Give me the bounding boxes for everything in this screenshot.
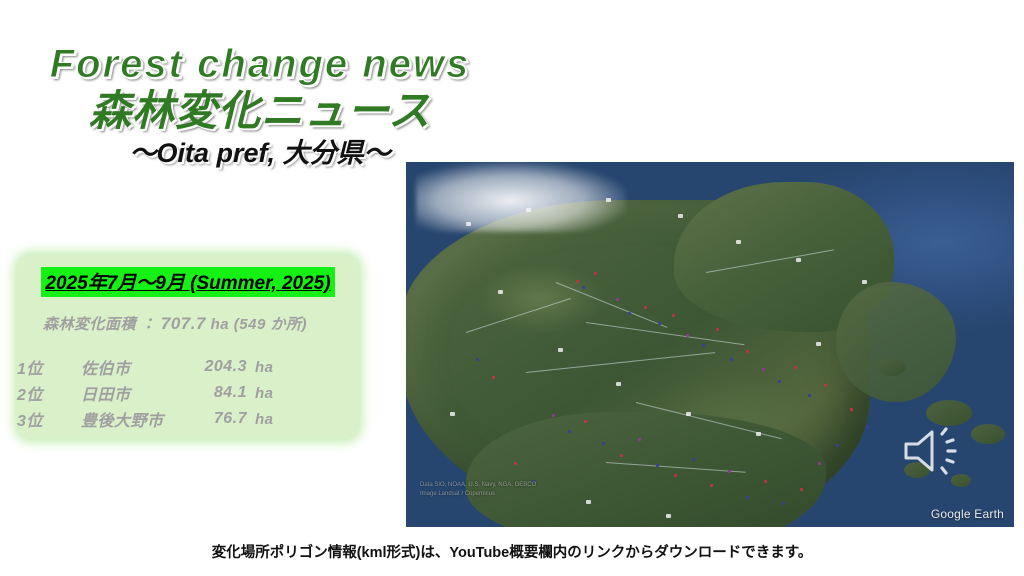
change-marker (746, 496, 749, 499)
change-marker (746, 350, 749, 353)
change-marker (728, 470, 731, 473)
change-marker (850, 408, 853, 411)
change-marker (552, 414, 555, 417)
change-marker (778, 380, 781, 383)
map-cloud (416, 162, 626, 232)
rank-unit: ha (247, 406, 274, 432)
map-place-label (666, 514, 671, 518)
map-island (926, 400, 972, 426)
map-place-label (796, 258, 801, 262)
map-place-label (862, 280, 867, 284)
footer-note: 変化場所ポリゴン情報(kml形式)は、YouTube概要欄内のリンクからダウンロ… (0, 541, 1024, 562)
map-place-label (816, 342, 821, 346)
map-attribution-line2: Image Landsat / Copernicus (420, 490, 536, 499)
rank-label: 3位 (17, 406, 81, 432)
rank-city: 佐伯市 (81, 354, 199, 380)
map-place-label (616, 382, 621, 386)
title-block: Forest change news 森林変化ニュース 〜Oita pref, … (0, 44, 520, 167)
map-island (876, 358, 906, 376)
map-place-label (558, 348, 563, 352)
change-marker (638, 438, 641, 441)
change-marker (514, 462, 517, 465)
map-place-label (686, 412, 691, 416)
change-marker (794, 366, 797, 369)
total-area-separator: ： (141, 316, 157, 333)
map-place-label (586, 500, 591, 504)
total-area-unit: ha (211, 316, 230, 333)
table-row: 2位 日田市 84.1 ha (17, 380, 274, 406)
change-marker (836, 444, 839, 447)
change-marker (800, 488, 803, 491)
title-japanese: 森林変化ニュース (0, 90, 520, 132)
change-marker (866, 426, 869, 429)
change-marker (602, 442, 605, 445)
change-marker (764, 480, 767, 483)
rank-value: 76.7 (199, 406, 247, 432)
change-marker (644, 306, 647, 309)
map-place-label (450, 412, 455, 416)
rank-value: 204.3 (199, 354, 247, 380)
map-canvas: Data SIO, NOAA, U.S. Navy, NGA, GEBCO Im… (406, 162, 1014, 527)
stats-heading-wrap: 2025年7月〜9月 (Summer, 2025) (17, 267, 359, 297)
change-marker (656, 464, 659, 467)
rank-value: 84.1 (199, 380, 247, 406)
change-marker (582, 286, 585, 289)
change-marker (584, 420, 587, 423)
stats-panel: 2025年7月〜9月 (Summer, 2025) 森林変化面積 ： 707.7… (17, 255, 359, 439)
change-marker (620, 454, 623, 457)
change-marker (702, 344, 705, 347)
change-marker (730, 358, 733, 361)
total-area-count: (549 か所) (234, 316, 307, 333)
google-earth-logo: Google Earth (931, 507, 1004, 521)
total-area-label: 森林変化面積 (43, 316, 136, 333)
change-marker (824, 384, 827, 387)
speaker-icon[interactable] (900, 425, 962, 477)
change-marker (674, 474, 677, 477)
change-marker (492, 376, 495, 379)
rank-unit: ha (247, 380, 274, 406)
table-row: 1位 佐伯市 204.3 ha (17, 354, 274, 380)
change-marker (672, 314, 675, 317)
map-place-label (606, 198, 611, 202)
satellite-map[interactable]: Data SIO, NOAA, U.S. Navy, NGA, GEBCO Im… (406, 162, 1014, 527)
change-marker (716, 328, 719, 331)
change-marker (782, 502, 785, 505)
slide-root: Forest change news 森林変化ニュース 〜Oita pref, … (0, 0, 1024, 576)
change-marker (686, 334, 689, 337)
map-place-label (736, 240, 741, 244)
total-area-value: 707.7 (161, 314, 206, 333)
rank-city: 日田市 (81, 380, 199, 406)
rank-label: 2位 (17, 380, 81, 406)
rank-unit: ha (247, 354, 274, 380)
map-place-label (498, 290, 503, 294)
map-place-label (678, 214, 683, 218)
table-row: 3位 豊後大野市 76.7 ha (17, 406, 274, 432)
change-marker (692, 458, 695, 461)
change-marker (476, 358, 479, 361)
change-marker (808, 394, 811, 397)
change-marker (818, 462, 821, 465)
change-marker (762, 368, 765, 371)
map-place-label (526, 208, 531, 212)
map-attribution-line1: Data SIO, NOAA, U.S. Navy, NGA, GEBCO (420, 481, 536, 490)
map-attribution: Data SIO, NOAA, U.S. Navy, NGA, GEBCO Im… (420, 481, 536, 499)
map-place-label (756, 432, 761, 436)
map-place-label (466, 222, 471, 226)
change-marker (616, 298, 619, 301)
change-marker (576, 280, 579, 283)
ranking-table-body: 1位 佐伯市 204.3 ha 2位 日田市 84.1 ha 3位 豊後大野市 … (17, 354, 274, 432)
map-landmass-south (466, 412, 826, 527)
change-marker (594, 272, 597, 275)
rank-city: 豊後大野市 (81, 406, 199, 432)
change-marker (568, 430, 571, 433)
title-english: Forest change news (0, 44, 520, 84)
map-island (971, 424, 1005, 444)
change-marker (628, 312, 631, 315)
ranking-table: 1位 佐伯市 204.3 ha 2位 日田市 84.1 ha 3位 豊後大野市 … (17, 354, 274, 432)
change-marker (710, 484, 713, 487)
change-marker (658, 322, 661, 325)
rank-label: 1位 (17, 354, 81, 380)
total-area-row: 森林変化面積 ： 707.7 ha (549 か所) (17, 313, 359, 334)
period-heading: 2025年7月〜9月 (Summer, 2025) (41, 267, 334, 297)
